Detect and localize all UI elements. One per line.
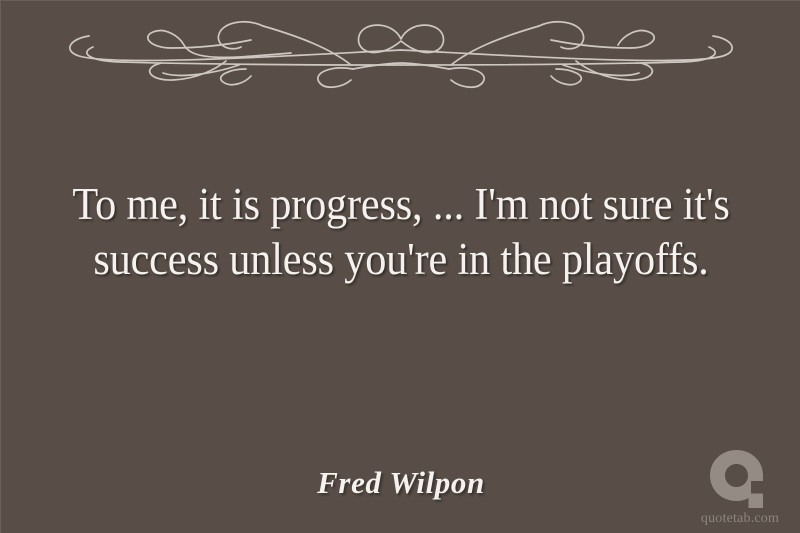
brand-site-name[interactable]: quotetab.com <box>692 511 788 527</box>
quote-text-block: To me, it is progress, ... I'm not sure … <box>51 177 751 287</box>
quote-text: To me, it is progress, ... I'm not sure … <box>72 177 730 287</box>
heart-flourish-divider-icon <box>1 3 800 103</box>
brand-watermark[interactable]: quotetab.com <box>692 448 788 527</box>
author-attribution: Fred Wilpon <box>1 465 800 501</box>
quote-image-card: To me, it is progress, ... I'm not sure … <box>0 0 800 533</box>
author-name[interactable]: Fred Wilpon <box>317 465 485 501</box>
quotetab-q-logo-icon <box>707 448 773 510</box>
